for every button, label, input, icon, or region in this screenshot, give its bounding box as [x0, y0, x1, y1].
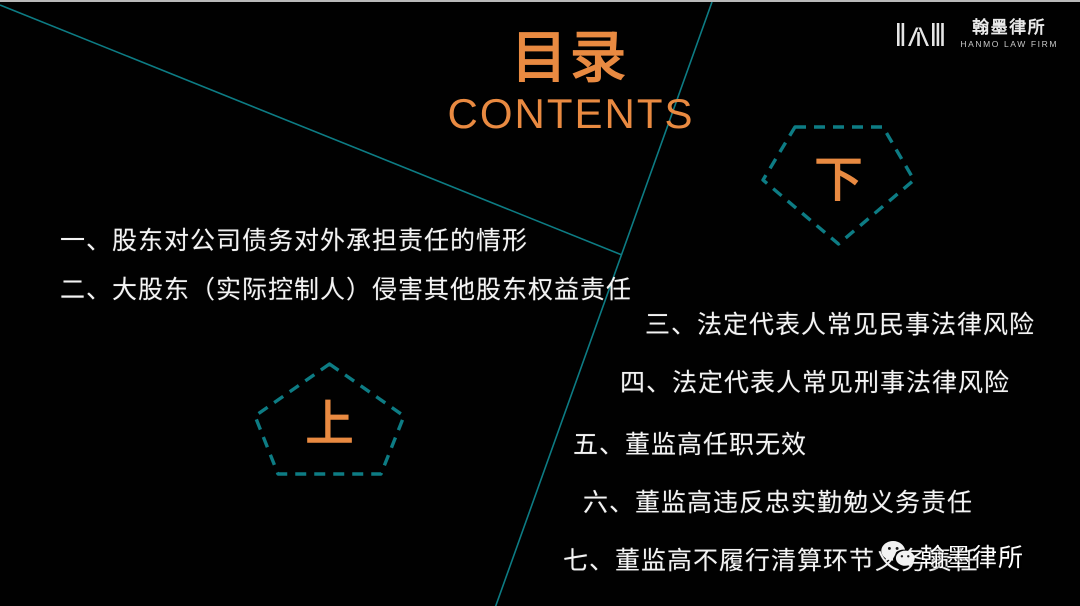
logo-wordmark: 翰墨律所 HANMO LAW FIRM: [960, 20, 1058, 49]
toc-item-5[interactable]: 五、董监高任职无效: [573, 425, 807, 461]
hanmo-monogram-icon: [897, 21, 951, 47]
toc-item-3[interactable]: 三、法定代表人常见民事法律风险: [645, 305, 1035, 341]
toc-item-1[interactable]: 一、股东对公司债务对外承担责任的情形: [60, 221, 528, 257]
badge-part-two: 下: [757, 122, 920, 248]
brand-logo: 翰墨律所 HANMO LAW FIRM: [897, 20, 1058, 49]
toc-item-7[interactable]: 七、董监高不履行清算环节义务责任: [563, 541, 979, 577]
presentation-slide: 翰墨律所 HANMO LAW FIRM 目录 CONTENTS 上 下 一、股东…: [0, 0, 1080, 606]
title-english: CONTENTS: [62, 91, 1080, 137]
badge-part-one: 上: [248, 360, 411, 478]
logo-name-en: HANMO LAW FIRM: [960, 40, 1058, 49]
logo-name-cn: 翰墨律所: [972, 20, 1046, 37]
diagonal-line-upper-left: [0, 5, 622, 255]
toc-item-4[interactable]: 四、法定代表人常见刑事法律风险: [620, 363, 1010, 399]
badge-label-xia: 下: [757, 112, 920, 238]
badge-label-shang: 上: [248, 360, 411, 478]
toc-item-2[interactable]: 二、大股东（实际控制人）侵害其他股东权益责任: [60, 270, 632, 306]
toc-item-6[interactable]: 六、董监高违反忠实勤勉义务责任: [583, 483, 973, 519]
